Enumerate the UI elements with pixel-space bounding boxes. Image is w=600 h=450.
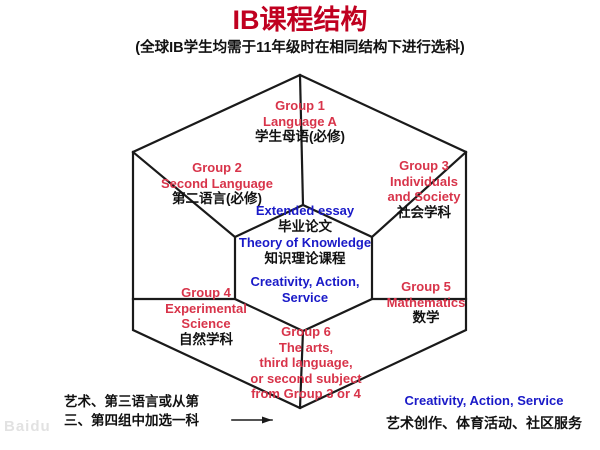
group-2-line-1: Group 2 xyxy=(142,160,292,176)
segment-group-2[interactable]: Group 2 Second Language 第二语言(必修) xyxy=(142,160,292,207)
segment-group-6[interactable]: Group 6 The arts, third language, or sec… xyxy=(218,324,394,402)
core-cas-line-1: Creativity, Action, xyxy=(222,274,388,290)
group-6-line-3: third language, xyxy=(218,355,394,371)
core-tok-en: Theory of Knowledge xyxy=(222,235,388,251)
annotation-left-line-2: 三、第四组中加选一科 xyxy=(64,411,254,430)
group-1-line-1: Group 1 xyxy=(228,98,372,114)
annotation-left: 艺术、第三语言或从第 三、第四组中加选一科 xyxy=(64,392,254,430)
group-2-line-2: Second Language xyxy=(142,176,292,192)
annotation-right-chinese: 艺术创作、体育活动、社区服务 xyxy=(368,413,600,433)
group-1-chinese: 学生母语(必修) xyxy=(228,129,372,145)
annotation-arrow-head xyxy=(262,417,272,424)
group-6-line-4: or second subject xyxy=(218,371,394,387)
core-requirements[interactable]: Extended essay 毕业论文 Theory of Knowledge … xyxy=(222,203,388,306)
annotation-right: Creativity, Action, Service 艺术创作、体育活动、社区… xyxy=(368,392,600,433)
core-extended-essay-cn: 毕业论文 xyxy=(222,219,388,235)
group-1-line-2: Language A xyxy=(228,114,372,130)
core-tok-cn: 知识理论课程 xyxy=(222,251,388,267)
watermark-logo: Baidu xyxy=(4,410,90,444)
annotation-left-line-1: 艺术、第三语言或从第 xyxy=(64,392,254,411)
core-cas-line-2: Service xyxy=(222,290,388,306)
core-extended-essay-en: Extended essay xyxy=(222,203,388,219)
group-6-line-2: The arts, xyxy=(218,340,394,356)
group-3-line-1: Group 3 xyxy=(360,158,488,174)
annotation-right-english: Creativity, Action, Service xyxy=(368,392,600,410)
group-6-line-1: Group 6 xyxy=(218,324,394,340)
diagram-canvas: IB课程结构 (全球IB学生均需于11年级时在相同结构下进行选科) Group … xyxy=(0,0,600,450)
core-spacer xyxy=(222,267,388,274)
group-3-line-2: Individuals xyxy=(360,174,488,190)
segment-group-1[interactable]: Group 1 Language A 学生母语(必修) xyxy=(228,98,372,145)
